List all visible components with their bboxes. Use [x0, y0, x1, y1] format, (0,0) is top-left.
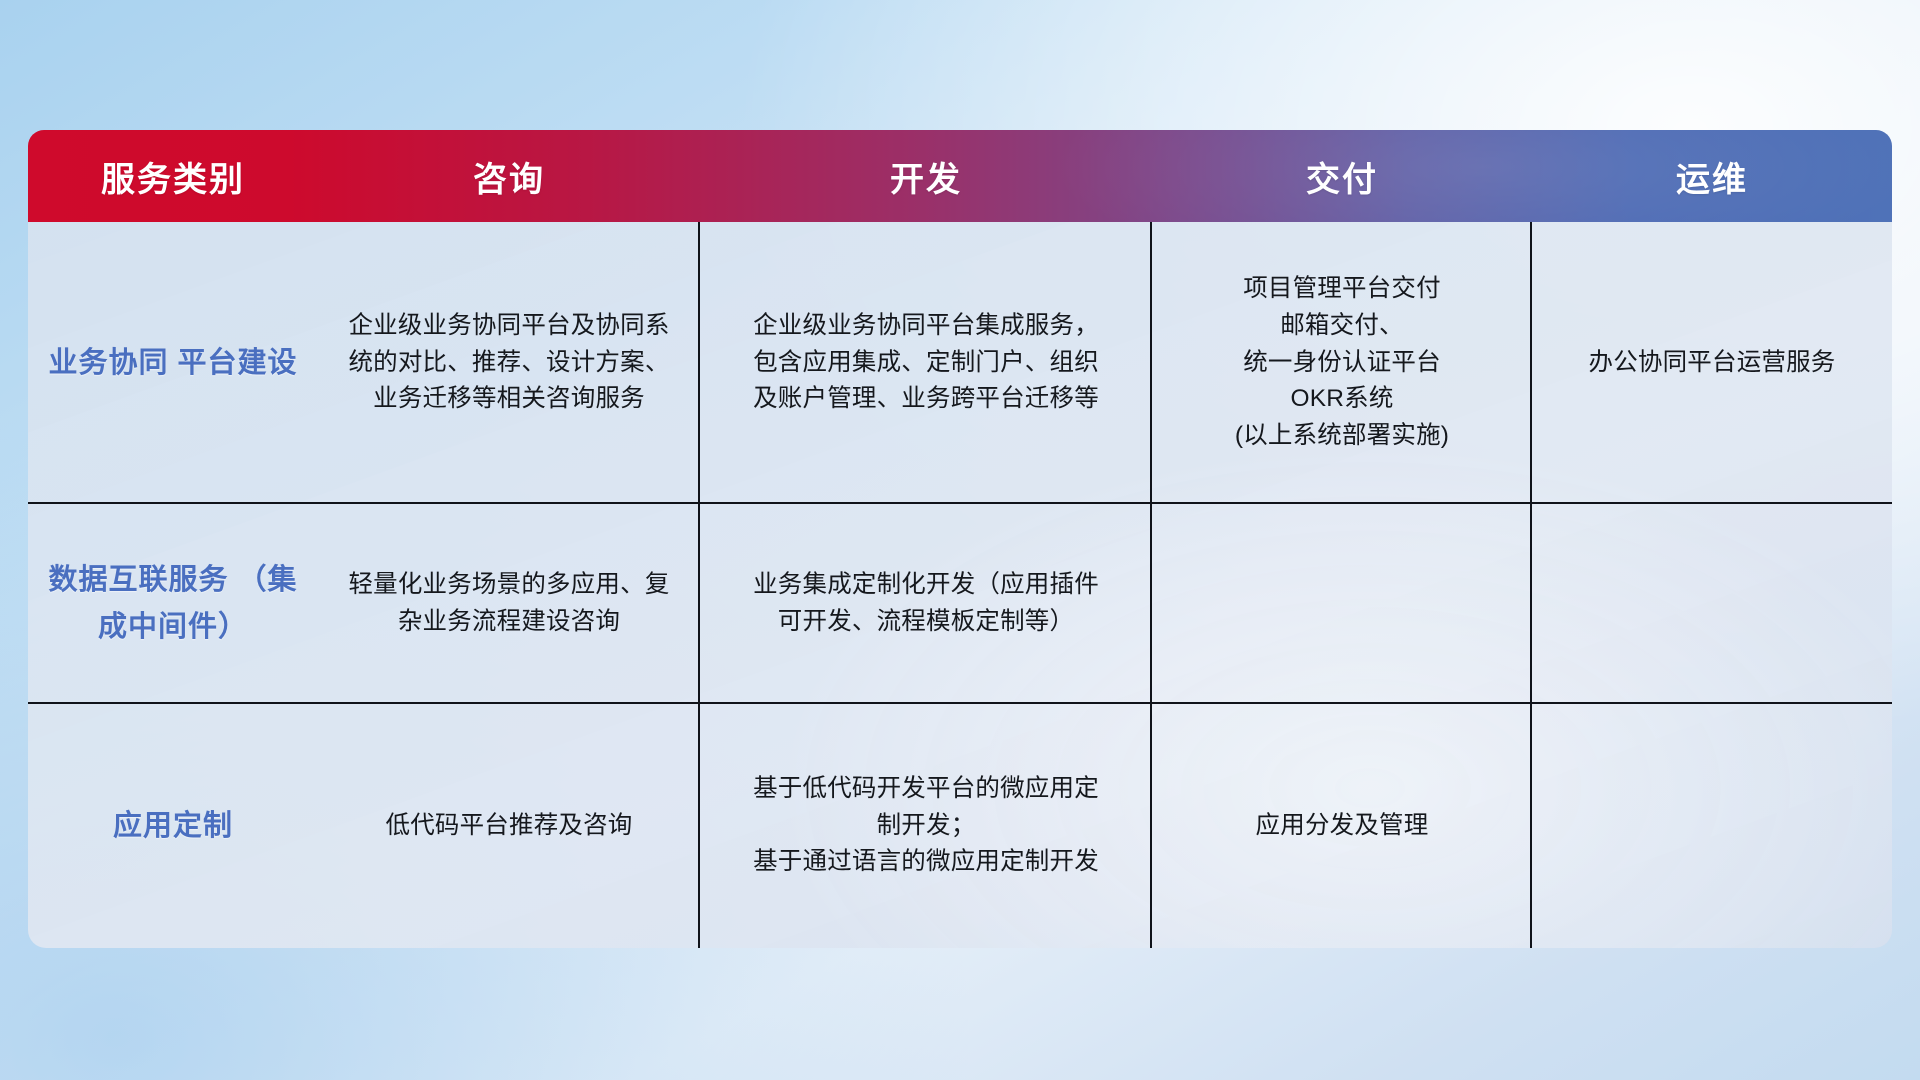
cell-develop: 业务集成定制化开发（应用插件 可开发、流程模板定制等） — [700, 504, 1152, 704]
cell-text: 应用分发及管理 — [1256, 808, 1429, 845]
cell-deliver — [1152, 504, 1532, 704]
column-header-develop[interactable]: 开发 — [700, 130, 1152, 222]
column-header-deliver[interactable]: 交付 — [1152, 130, 1532, 222]
cell-ops — [1532, 704, 1892, 948]
cell-text: 企业级业务协同平台及协同系 统的对比、推荐、设计方案、 业务迁移等相关咨询服务 — [348, 308, 669, 418]
cell-text: 项目管理平台交付 邮箱交付、 统一身份认证平台 OKR系统 (以上系统部署实施) — [1235, 271, 1449, 455]
service-matrix-table: 服务类别 咨询 开发 交付 运维 业务协同 平台建设 企业级业务协同平台及协同系… — [28, 130, 1892, 948]
cell-text: 基于低代码开发平台的微应用定 制开发； 基于通过语言的微应用定制开发 — [753, 771, 1099, 881]
cell-deliver: 应用分发及管理 — [1152, 704, 1532, 948]
table-header-row: 服务类别 咨询 开发 交付 运维 — [28, 130, 1892, 222]
cell-ops — [1532, 504, 1892, 704]
cell-consult: 低代码平台推荐及咨询 — [318, 704, 700, 948]
slide-canvas: 服务类别 咨询 开发 交付 运维 业务协同 平台建设 企业级业务协同平台及协同系… — [0, 0, 1920, 1080]
table-row: 业务协同 平台建设 企业级业务协同平台及协同系 统的对比、推荐、设计方案、 业务… — [28, 222, 1892, 504]
category-label: 数据互联服务 （集成中间件） — [42, 557, 304, 651]
table-row: 应用定制 低代码平台推荐及咨询 基于低代码开发平台的微应用定 制开发； 基于通过… — [28, 704, 1892, 948]
cell-deliver: 项目管理平台交付 邮箱交付、 统一身份认证平台 OKR系统 (以上系统部署实施) — [1152, 222, 1532, 504]
category-label: 业务协同 平台建设 — [48, 340, 297, 387]
cell-category: 数据互联服务 （集成中间件） — [28, 504, 318, 704]
table-body: 业务协同 平台建设 企业级业务协同平台及协同系 统的对比、推荐、设计方案、 业务… — [28, 222, 1892, 948]
cell-text: 轻量化业务场景的多应用、复 杂业务流程建设咨询 — [348, 567, 669, 641]
cell-text: 办公协同平台运营服务 — [1589, 345, 1836, 382]
cell-text: 业务集成定制化开发（应用插件 可开发、流程模板定制等） — [753, 567, 1099, 641]
cell-category: 业务协同 平台建设 — [28, 222, 318, 504]
column-header-ops[interactable]: 运维 — [1532, 130, 1892, 222]
cell-text: 企业级业务协同平台集成服务， 包含应用集成、定制门户、组织 及账户管理、业务跨平… — [753, 308, 1099, 418]
cell-text: 低代码平台推荐及咨询 — [386, 808, 633, 845]
cell-consult: 轻量化业务场景的多应用、复 杂业务流程建设咨询 — [318, 504, 700, 704]
cell-consult: 企业级业务协同平台及协同系 统的对比、推荐、设计方案、 业务迁移等相关咨询服务 — [318, 222, 700, 504]
column-header-consult[interactable]: 咨询 — [318, 130, 700, 222]
column-header-category[interactable]: 服务类别 — [28, 130, 318, 222]
cell-category: 应用定制 — [28, 704, 318, 948]
table-row: 数据互联服务 （集成中间件） 轻量化业务场景的多应用、复 杂业务流程建设咨询 业… — [28, 504, 1892, 704]
cell-develop: 基于低代码开发平台的微应用定 制开发； 基于通过语言的微应用定制开发 — [700, 704, 1152, 948]
cell-ops: 办公协同平台运营服务 — [1532, 222, 1892, 504]
cell-develop: 企业级业务协同平台集成服务， 包含应用集成、定制门户、组织 及账户管理、业务跨平… — [700, 222, 1152, 504]
category-label: 应用定制 — [113, 803, 233, 850]
